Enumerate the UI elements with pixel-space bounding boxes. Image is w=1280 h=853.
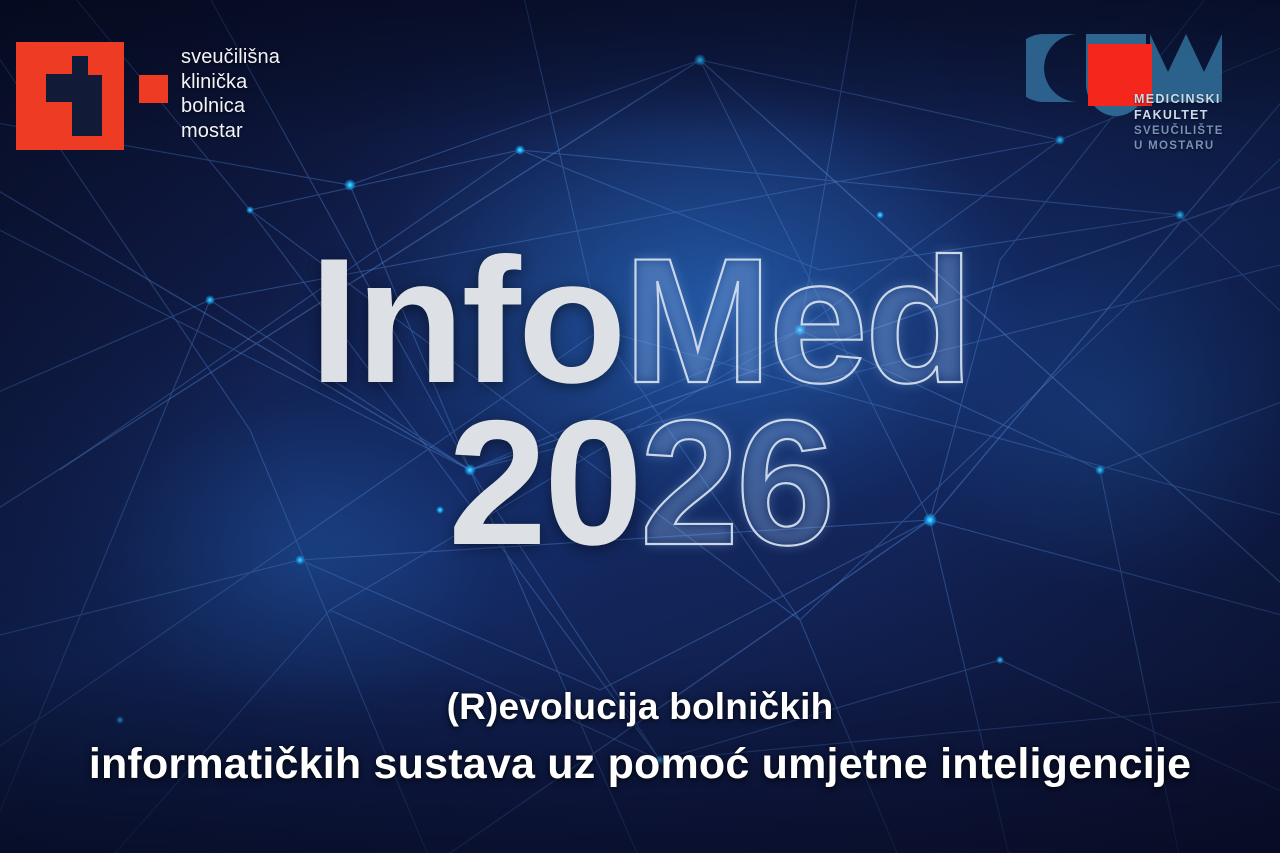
hospital-name-line-4: mostar bbox=[181, 119, 280, 144]
event-year-row: 2026 bbox=[0, 394, 1280, 572]
subtitle-line-2: informatičkih sustava uz pomoć umjetne i… bbox=[0, 740, 1280, 789]
faculty-line-4: U MOSTARU bbox=[1134, 140, 1214, 152]
hospital-logo: sveučilišna klinička bolnica mostar bbox=[16, 42, 280, 150]
pixel-cross-logo-icon bbox=[16, 42, 168, 150]
event-year-solid-part: 20 bbox=[448, 383, 640, 582]
event-year-outline-part: 26 bbox=[640, 383, 832, 582]
subtitle-line-1: (R)evolucija bolničkih bbox=[0, 686, 1280, 728]
event-title-block: InfoMed 2026 bbox=[0, 232, 1280, 572]
faculty-line-1: MEDICINSKI bbox=[1134, 92, 1221, 106]
hospital-name-line-2: klinička bbox=[181, 70, 280, 95]
event-subtitle-block: (R)evolucija bolničkih informatičkih sus… bbox=[0, 686, 1280, 788]
poster-canvas: sveučilišna klinička bolnica mostar MEDI… bbox=[0, 0, 1280, 853]
hospital-name-line-1: sveučilišna bbox=[181, 45, 280, 70]
faculty-logo: MEDICINSKI FAKULTET SVEUČILIŠTE U MOSTAR… bbox=[1026, 26, 1266, 171]
hospital-name-line-3: bolnica bbox=[181, 94, 280, 119]
faculty-line-3: SVEUČILIŠTE bbox=[1134, 125, 1224, 137]
hospital-logo-wordmark: sveučilišna klinička bolnica mostar bbox=[181, 45, 280, 143]
faculty-line-2: FAKULTET bbox=[1134, 108, 1209, 122]
